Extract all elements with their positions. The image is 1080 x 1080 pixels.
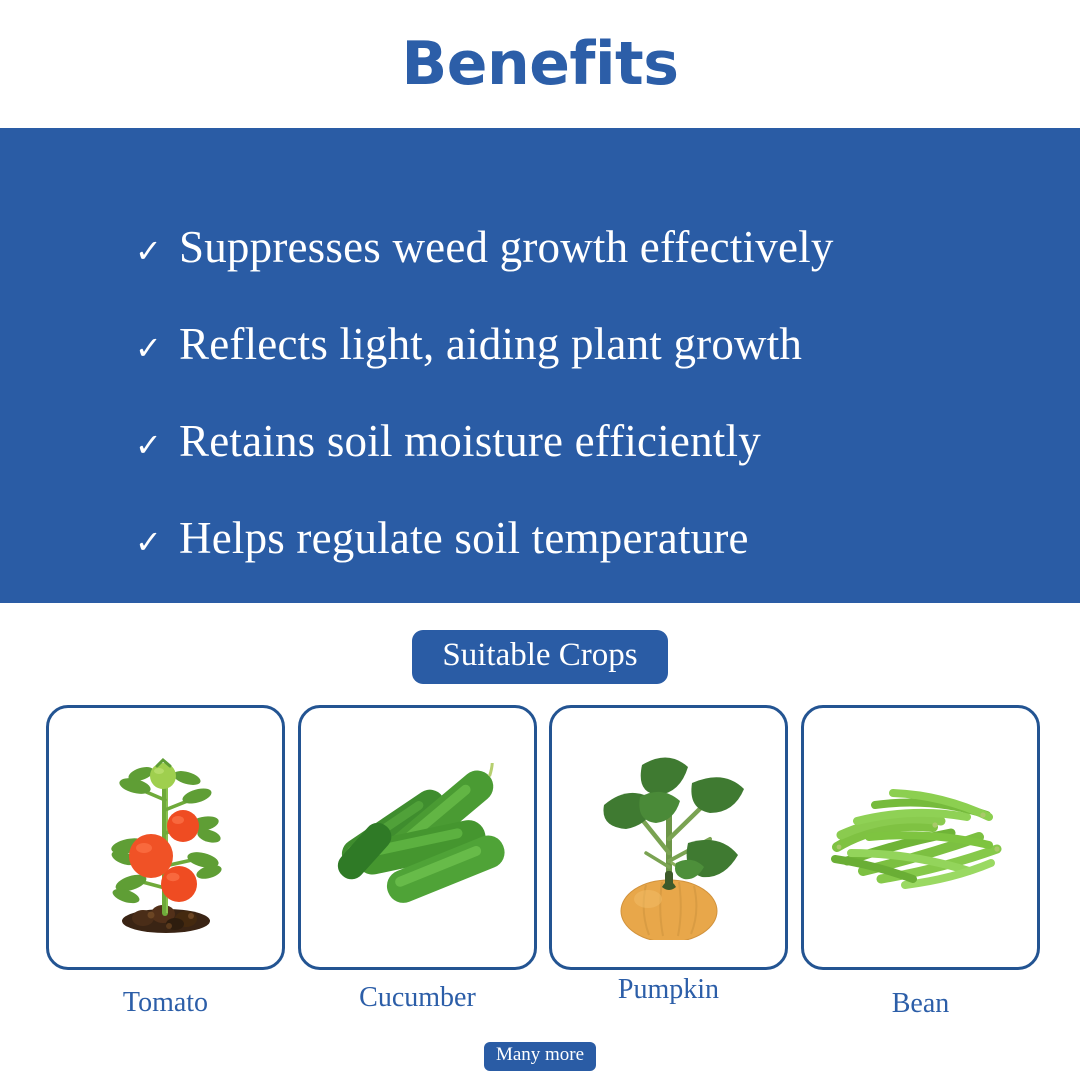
check-icon: ✓ [135,235,179,267]
crop-labels-row: Tomato Cucumber Pumpkin Bean [46,970,1040,1030]
check-icon: ✓ [135,429,179,461]
crop-label-bean: Bean [801,988,1040,1020]
cucumber-pile-icon [322,763,512,913]
list-item: ✓ Reflects light, aiding plant growth [0,321,1080,368]
crop-card-cucumber[interactable] [298,705,537,970]
crop-label-cucumber: Cucumber [298,982,537,1014]
list-item: ✓ Helps regulate soil temperature [0,515,1080,562]
tomato-plant-icon [91,738,241,938]
pumpkin-plant-icon [584,735,754,940]
many-more-container: Many more [0,1042,1080,1071]
suitable-crops-badge: Suitable Crops [412,630,667,684]
benefit-text: Helps regulate soil temperature [179,515,749,562]
list-item: ✓ Suppresses weed growth effectively [0,224,1080,271]
green-bean-pile-icon [823,775,1018,900]
check-icon: ✓ [135,332,179,364]
benefit-text: Reflects light, aiding plant growth [179,321,802,368]
list-item: ✓ Retains soil moisture efficiently [0,418,1080,465]
suitable-crops-badge-container: Suitable Crops [0,630,1080,684]
benefits-list: ✓ Suppresses weed growth effectively ✓ R… [0,185,1080,603]
crop-label-pumpkin: Pumpkin [549,974,788,1006]
crop-cards-row [46,705,1040,970]
benefit-text: Suppresses weed growth effectively [179,224,834,271]
many-more-badge[interactable]: Many more [484,1042,596,1071]
page-header: Benefits [0,0,1080,128]
crop-label-tomato: Tomato [46,987,285,1019]
page-title: Benefits [402,34,679,94]
crop-card-pumpkin[interactable] [549,705,788,970]
check-icon: ✓ [135,526,179,558]
crop-card-tomato[interactable] [46,705,285,970]
benefit-text: Retains soil moisture efficiently [179,418,761,465]
crop-card-bean[interactable] [801,705,1040,970]
